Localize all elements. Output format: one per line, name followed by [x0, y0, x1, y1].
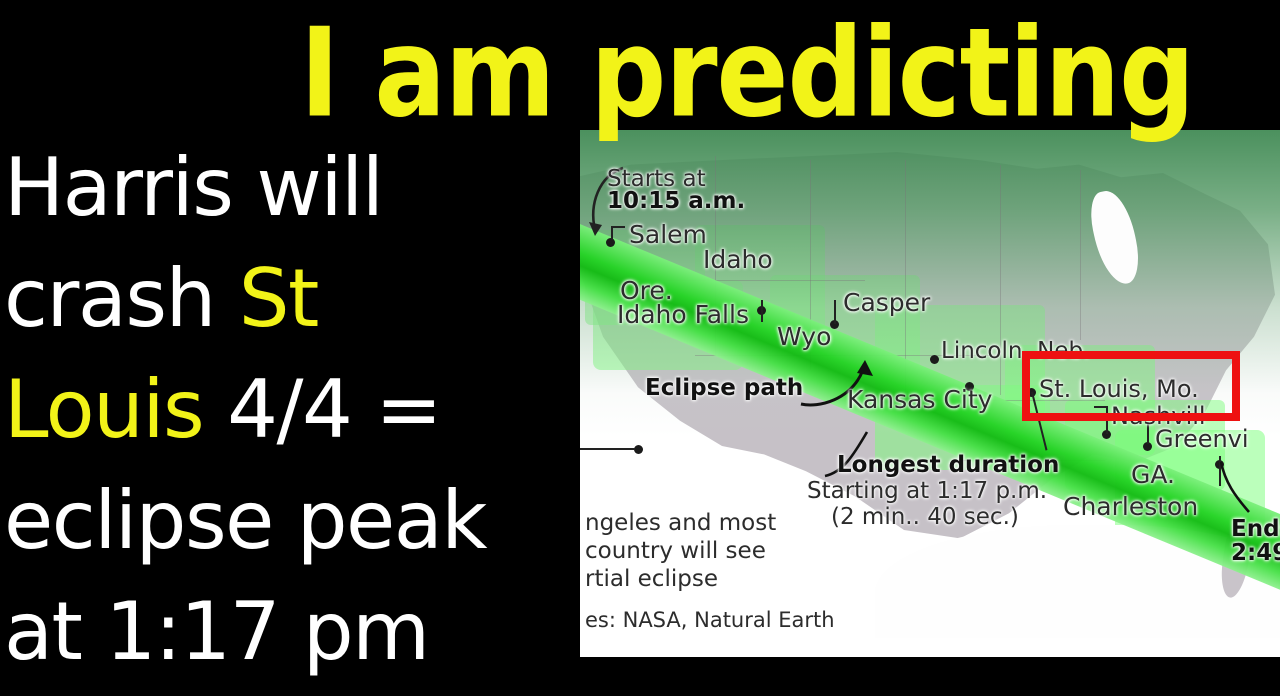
caption-segment: eclipse peak	[4, 474, 486, 567]
leader-salem	[611, 226, 613, 240]
label-longest-duration-start: Starting at 1:17 p.m.	[807, 478, 1047, 504]
caption-segment: crash	[4, 252, 239, 345]
label-eclipse-path: Eclipse path	[645, 375, 803, 401]
label-georgia: GA.	[1131, 460, 1175, 489]
caption-segment: St	[239, 252, 318, 345]
label-ends-at-line2: 2:49	[1231, 540, 1280, 566]
label-source-credit: es: NASA, Natural Earth	[585, 608, 835, 632]
leader-idahofalls	[761, 300, 763, 322]
leader-charleston	[1219, 456, 1221, 486]
caption-text-block: Harris will crash St Louis 4/4 = eclipse…	[4, 132, 588, 687]
label-charleston: Charleston	[1063, 492, 1198, 521]
label-idaho-falls: Idaho Falls	[617, 300, 749, 329]
caption-segment: 4/4 =	[203, 363, 441, 456]
map-bottom-white-strip	[575, 638, 1280, 657]
caption-line-1: Harris will	[4, 132, 588, 243]
city-dot-losangeles	[634, 445, 643, 454]
label-ends-at-line1: Ends	[1231, 516, 1280, 542]
label-longest-duration-span: (2 min.. 40 sec.)	[831, 504, 1019, 530]
label-salem: Salem	[629, 220, 707, 249]
label-wyoming: Wyo	[777, 322, 831, 351]
st-louis-highlight-box	[1022, 351, 1240, 421]
label-longest-duration: Longest duration	[837, 452, 1059, 478]
label-kansas-city: Kansas City	[847, 385, 992, 414]
caption-segment: at 1:17 pm	[4, 585, 429, 678]
caption-line-3: Louis 4/4 =	[4, 354, 588, 465]
caption-line-2: crash St	[4, 243, 588, 354]
caption-segment: Harris will	[4, 141, 383, 234]
label-starts-at-line2: 10:15 a.m.	[607, 188, 745, 214]
city-dot-lincoln	[930, 355, 939, 364]
leader-salem-h	[611, 226, 625, 228]
thumbnail-canvas: Starts at 10:15 a.m. Salem Idaho Ore. Id…	[0, 0, 1280, 696]
label-greenville: Greenvi	[1155, 425, 1249, 453]
label-partial-line1: ngeles and most	[585, 510, 776, 536]
page-title: I am predicting	[300, 8, 1194, 138]
caption-segment: Louis	[4, 363, 203, 456]
state-border	[1080, 170, 1081, 340]
leader-casper	[834, 300, 836, 324]
label-partial-line3: rtial eclipse	[585, 566, 718, 592]
caption-line-4: eclipse peak	[4, 465, 588, 576]
label-idaho: Idaho	[703, 245, 773, 274]
caption-line-5: at 1:17 pm	[4, 576, 588, 687]
label-casper: Casper	[843, 288, 930, 317]
label-partial-line2: country will see	[585, 538, 766, 564]
